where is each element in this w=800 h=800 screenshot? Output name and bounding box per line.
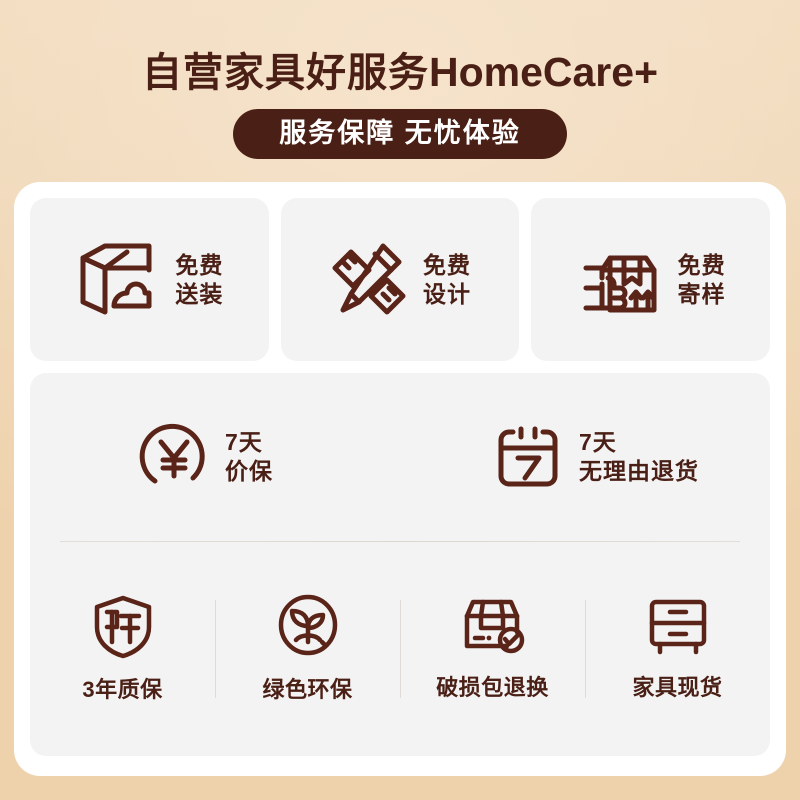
eco-sprout-icon: [276, 594, 340, 660]
yuan-circle-icon: [137, 420, 211, 494]
service-card-label: 免费 设计: [423, 251, 471, 309]
feature-item-warranty[interactable]: 3年质保: [30, 542, 215, 756]
service-card-label: 免费 送装: [175, 251, 223, 309]
pencil-ruler-icon: [329, 240, 409, 320]
mid-guarantee-row: 7天 价保 7天 无理由退货: [30, 373, 770, 541]
guarantee-card: 7天 价保 7天 无理由退货: [30, 373, 770, 756]
services-panel: 免费 送装 免费 设计: [14, 182, 786, 776]
hand-holding-box-icon: [576, 240, 664, 320]
calendar-seven-icon: [491, 420, 565, 494]
feature-item-in-stock[interactable]: 家具现货: [585, 542, 770, 756]
service-card-label: 免费 寄样: [678, 251, 726, 309]
promo-header: 自营家具好服务HomeCare+ 服务保障 无忧体验: [0, 0, 800, 159]
guarantee-item-label: 7天 价保: [225, 428, 273, 486]
guarantee-item-returns[interactable]: 7天 无理由退货: [420, 420, 770, 494]
service-card-free-design[interactable]: 免费 设计: [281, 198, 520, 361]
service-card-free-delivery[interactable]: 免费 送装: [30, 198, 269, 361]
feature-item-label: 破损包退换: [436, 670, 549, 702]
top-service-cards: 免费 送装 免费 设计: [30, 198, 770, 361]
feature-item-label: 家具现货: [632, 670, 722, 702]
feature-item-label: 3年质保: [82, 672, 162, 704]
box-delivery-icon: [75, 240, 161, 320]
service-card-free-sample[interactable]: 免费 寄样: [531, 198, 770, 361]
bottom-feature-row: 3年质保 绿色环保: [30, 542, 770, 756]
box-check-icon: [459, 596, 527, 658]
cabinet-icon: [645, 596, 711, 658]
guarantee-item-label: 7天 无理由退货: [579, 428, 699, 486]
feature-item-eco[interactable]: 绿色环保: [215, 542, 400, 756]
page-title-en: HomeCare+: [429, 49, 658, 95]
feature-item-damage-replacement[interactable]: 破损包退换: [400, 542, 585, 756]
shield-warranty-icon: [91, 594, 155, 660]
page-title-cn: 自营家具好服务: [142, 51, 429, 95]
page-title: 自营家具好服务HomeCare+: [0, 52, 800, 93]
service-guarantee-badge: 服务保障 无忧体验: [233, 109, 567, 159]
feature-item-label: 绿色环保: [262, 672, 352, 704]
guarantee-item-price-protection[interactable]: 7天 价保: [30, 420, 420, 494]
